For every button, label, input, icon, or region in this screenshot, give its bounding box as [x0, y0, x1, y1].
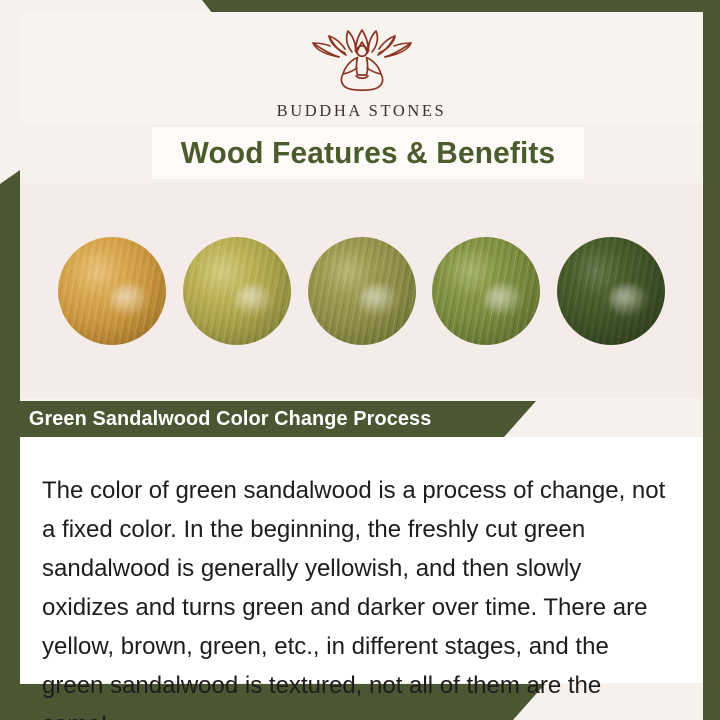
header-area: BUDDHA STONES	[20, 12, 703, 124]
frame-left-bar	[0, 170, 20, 720]
bead-swatch-2	[183, 237, 291, 345]
bead-color-strip	[20, 183, 703, 398]
page-title-box: Wood Features & Benefits	[152, 127, 584, 179]
frame-right-bar	[703, 0, 720, 720]
bead-swatch-1	[58, 237, 166, 345]
body-panel: The color of green sandalwood is a proce…	[20, 437, 703, 683]
body-paragraph: The color of green sandalwood is a proce…	[42, 471, 666, 720]
brand-name: BUDDHA STONES	[277, 101, 447, 121]
section-banner-label: Green Sandalwood Color Change Process	[7, 407, 432, 431]
bead-swatch-4	[432, 237, 540, 345]
bead-swatch-3	[308, 237, 416, 345]
section-banner: Green Sandalwood Color Change Process	[0, 401, 536, 437]
infographic-card: BUDDHA STONES Wood Features & Benefits G…	[0, 0, 720, 720]
page-title: Wood Features & Benefits	[181, 135, 555, 171]
brand-logo: BUDDHA STONES	[277, 26, 447, 121]
lotus-meditation-icon	[308, 26, 416, 97]
bead-swatch-5	[557, 237, 665, 345]
